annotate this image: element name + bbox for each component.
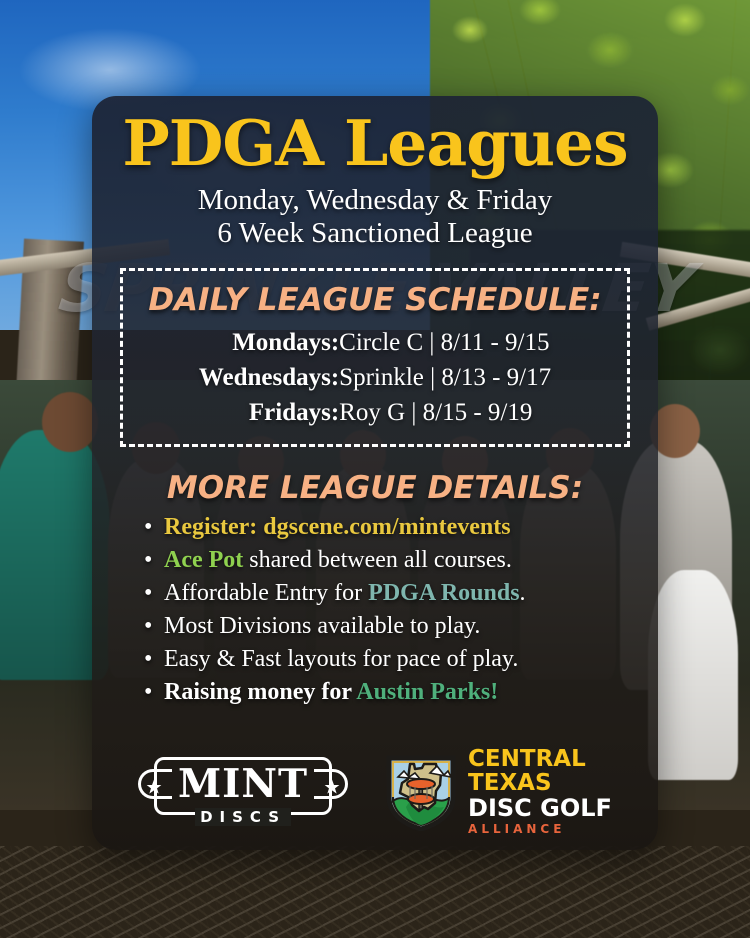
central-texas-dga-logo: CENTRAL TEXAS DISC GOLF ALLIANCE: [384, 748, 612, 836]
table-row: Fridays: Roy G | 8/15 - 9/19: [199, 395, 551, 430]
schedule-detail: Roy G | 8/15 - 9/19: [339, 395, 551, 430]
poster-panel: PDGA Leagues Monday, Wednesday & Friday …: [92, 96, 658, 850]
table-row: Mondays: Circle C | 8/11 - 9/15: [199, 325, 551, 360]
poster-subtitle: Monday, Wednesday & Friday 6 Week Sancti…: [92, 184, 658, 250]
list-item-layouts: Easy & Fast layouts for pace of play.: [144, 643, 658, 676]
ctdga-line-2: TEXAS: [468, 772, 612, 795]
schedule-day: Wednesdays:: [199, 360, 339, 395]
list-item-fundraiser: Raising money for Austin Parks!: [144, 676, 658, 709]
details-list: Register: dgscene.com/mintevents Ace Pot…: [92, 511, 658, 709]
list-item-register[interactable]: Register: dgscene.com/mintevents: [144, 511, 658, 544]
schedule-day: Mondays:: [199, 325, 339, 360]
shield-emblem-icon: [384, 753, 458, 831]
mint-subtitle: DISCS: [154, 808, 332, 826]
schedule-heading: DAILY LEAGUE SCHEDULE:: [129, 281, 621, 319]
subtitle-line-2: 6 Week Sanctioned League: [92, 217, 658, 250]
mint-subtitle-text: DISCS: [195, 808, 291, 826]
pdga-rounds-label: PDGA Rounds: [368, 580, 519, 606]
mint-wordmark: MINT: [154, 761, 332, 807]
ace-pot-text: shared between all courses.: [243, 547, 512, 573]
logo-row: MINT DISCS: [92, 748, 658, 836]
schedule-table: Mondays: Circle C | 8/11 - 9/15 Wednesda…: [199, 325, 551, 430]
schedule-box: DAILY LEAGUE SCHEDULE: Mondays: Circle C…: [120, 268, 630, 447]
schedule-detail: Circle C | 8/11 - 9/15: [339, 325, 551, 360]
ctdga-line-4: ALLIANCE: [468, 822, 612, 836]
mint-discs-logo: MINT DISCS: [138, 753, 348, 831]
ctdga-line-3: DISC GOLF: [468, 796, 612, 821]
divisions-text: Most Divisions available to play.: [164, 613, 480, 639]
list-item-ace-pot: Ace Pot shared between all courses.: [144, 544, 658, 577]
poster-screenshot: SPRINKLE VALLEY PDGA Leagues Monday, Wed…: [0, 0, 750, 938]
schedule-detail: Sprinkle | 8/13 - 9/17: [339, 360, 551, 395]
entry-text-end: .: [520, 580, 526, 606]
schedule-day: Fridays:: [199, 395, 339, 430]
ctdga-wordmark: CENTRAL TEXAS DISC GOLF ALLIANCE: [468, 748, 612, 836]
entry-text: Affordable Entry for: [164, 580, 368, 606]
subtitle-line-1: Monday, Wednesday & Friday: [92, 184, 658, 217]
person-head: [42, 392, 98, 452]
ground-texture: [0, 846, 750, 938]
person: [648, 570, 738, 780]
fundraiser-text: Raising money for: [164, 679, 356, 705]
ace-pot-label: Ace Pot: [164, 547, 243, 573]
list-item-divisions: Most Divisions available to play.: [144, 610, 658, 643]
details-heading: MORE LEAGUE DETAILS:: [92, 469, 658, 507]
table-row: Wednesdays: Sprinkle | 8/13 - 9/17: [199, 360, 551, 395]
list-item-entry: Affordable Entry for PDGA Rounds.: [144, 577, 658, 610]
register-link[interactable]: Register: dgscene.com/mintevents: [164, 514, 511, 540]
layouts-text: Easy & Fast layouts for pace of play.: [164, 646, 518, 672]
page-title: PDGA Leagues: [92, 110, 658, 176]
austin-parks-label: Austin Parks!: [356, 679, 498, 705]
ctdga-line-1: CENTRAL: [468, 748, 612, 771]
